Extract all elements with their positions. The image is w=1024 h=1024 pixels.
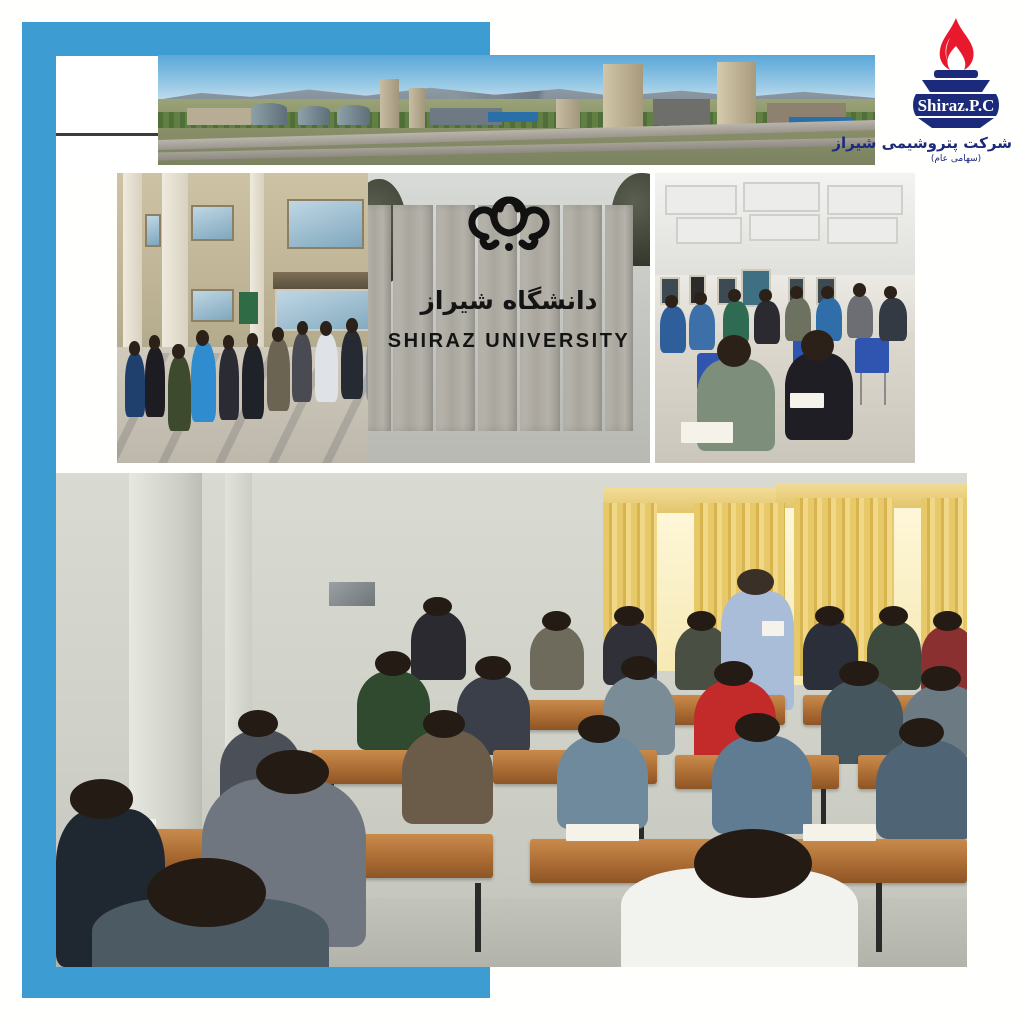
person-blue-jacket (191, 341, 216, 422)
person-head (375, 651, 411, 676)
person (341, 330, 364, 400)
facade-column (250, 173, 264, 353)
facade-window (191, 289, 235, 322)
person-head (172, 344, 184, 359)
person-head (614, 606, 643, 626)
person-head (921, 666, 960, 692)
person-head (899, 718, 945, 748)
person-head (714, 661, 753, 687)
person-head (346, 318, 358, 333)
candidate (712, 735, 812, 834)
company-logo: Shiraz.P.C شرکت پتروشیمی شیراز (سهامی عا… (900, 14, 1012, 174)
candidate (411, 611, 466, 680)
person-head (728, 289, 741, 302)
person (145, 347, 165, 417)
frame-top-bar (22, 22, 490, 56)
cooling-tower (556, 99, 580, 128)
person-head (815, 606, 844, 626)
plant-building (653, 99, 710, 125)
person-head (129, 341, 140, 356)
desk-leg (475, 883, 481, 952)
person-head (247, 333, 259, 348)
process-stack (409, 88, 425, 128)
seated-candidate (847, 295, 873, 339)
university-name-farsi: دانشگاه شیراز (421, 286, 598, 315)
person-head (542, 611, 571, 631)
person-head (853, 283, 866, 296)
facade-column (123, 173, 143, 353)
person (168, 356, 191, 431)
university-name-english: SHIRAZ UNIVERSITY (388, 330, 631, 353)
monument-slab (605, 205, 633, 431)
seated-candidate (660, 306, 686, 352)
flame-torch-icon: Shiraz.P.C (900, 14, 1012, 132)
candidate (876, 740, 967, 839)
person-head (320, 321, 332, 336)
plant-building (187, 108, 252, 126)
ceiling-coffer (749, 214, 821, 241)
candidate (557, 735, 648, 829)
photo-petrochemical-plant-aerial (158, 55, 875, 165)
poster-canvas: دانشگاه شیراز SHIRAZ UNIVERSITY (0, 0, 1024, 1024)
svg-text:Shiraz.P.C: Shiraz.P.C (918, 96, 995, 115)
photo-applicants-outside-university (117, 173, 400, 463)
process-stack (380, 79, 399, 127)
divider-rule (56, 133, 160, 136)
person (267, 338, 290, 411)
storage-tank (298, 106, 330, 126)
person-head (735, 713, 781, 743)
frame-bottom-bar (22, 964, 490, 998)
ceiling-coffer (676, 217, 742, 244)
person-head (149, 335, 160, 350)
desk-leg (876, 883, 882, 952)
facade-column (162, 173, 187, 353)
person (125, 353, 145, 417)
ceiling-coffer (827, 217, 899, 244)
chair-leg (884, 373, 886, 405)
photo-shiraz-university-monument: دانشگاه شیراز SHIRAZ UNIVERSITY (368, 173, 650, 463)
person-head (70, 779, 134, 819)
storage-tank (337, 105, 369, 126)
person-head (238, 710, 278, 737)
storage-tank (251, 103, 287, 125)
person-white-shirt (315, 333, 338, 403)
side-door (239, 292, 259, 324)
proctor-badge (762, 621, 784, 636)
blue-roof-unit (488, 112, 538, 122)
chair-leg (860, 373, 862, 405)
person-head (256, 750, 329, 794)
silo-tower (717, 62, 756, 128)
blue-chair (855, 338, 889, 373)
answer-sheet (790, 393, 824, 408)
photo-exam-hall-wide (655, 173, 915, 463)
proctor-head (737, 569, 773, 595)
white-notch-block (56, 56, 160, 174)
monument-slab (563, 205, 602, 431)
facade-window (287, 199, 365, 249)
person (242, 344, 265, 419)
person (292, 333, 312, 403)
person-head (578, 715, 620, 743)
answer-sheet (803, 824, 876, 841)
facade-window (191, 205, 235, 241)
person-head (272, 327, 284, 342)
seated-candidate (879, 298, 908, 342)
ceiling-coffer (827, 185, 904, 215)
frame-left-bar (22, 22, 56, 998)
university-crest-icon (450, 185, 568, 267)
monument-slab (393, 205, 432, 431)
photo-classroom-exam-main (56, 473, 967, 967)
candidate (402, 730, 493, 824)
seated-candidate (689, 304, 715, 350)
facade-window (145, 214, 160, 247)
logo-company-name-farsi: شرکت پتروشیمی شیراز (900, 134, 1012, 152)
ceiling-coffer (665, 185, 737, 215)
logo-company-subtitle-farsi: (سهامی عام) (900, 154, 1012, 164)
wall-vent (329, 582, 375, 607)
candidate (530, 626, 585, 690)
person-head (423, 710, 465, 738)
person-head (879, 606, 908, 626)
person-head (839, 661, 878, 687)
seated-candidate (754, 301, 780, 345)
ceiling-coffer (743, 182, 820, 212)
person-head (196, 330, 209, 346)
monument-slab (368, 205, 391, 431)
person-head (147, 858, 265, 927)
answer-sheet (681, 422, 733, 442)
person-head (694, 829, 812, 898)
person (219, 347, 239, 420)
answer-sheet (566, 824, 639, 841)
silo-tower (603, 64, 643, 128)
wall-pillar (129, 473, 202, 858)
